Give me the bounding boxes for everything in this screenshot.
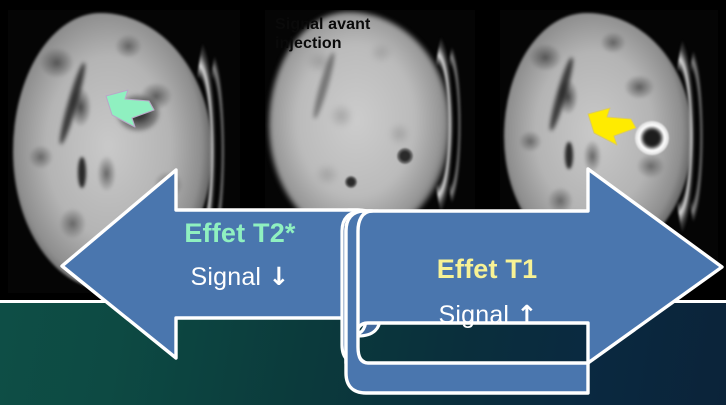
yellow-pointer-arrow [586,102,640,148]
effet-t1-arrow[interactable] [338,205,726,405]
panel-caption-center: Signal avant injection [275,16,370,54]
scalp-rim [446,28,475,221]
slide-canvas: Signal avant injection [0,0,726,405]
mint-pointer-arrow [104,84,158,130]
